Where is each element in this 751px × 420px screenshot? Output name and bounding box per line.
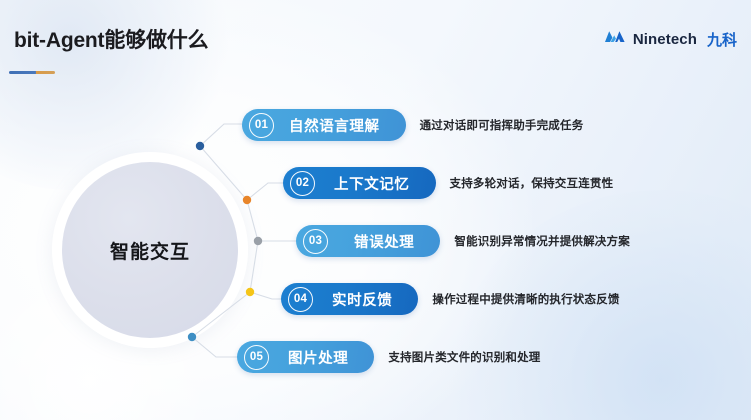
feature-pill-01[interactable]: 01 自然语言理解: [242, 109, 406, 141]
feature-label-03: 错误处理: [354, 231, 414, 252]
connector-dot-01: [196, 142, 204, 150]
slide-canvas: bit-Agent能够做什么 Ninetech 九科 智能交互: [0, 0, 751, 420]
feature-number-badge-03: 03: [303, 229, 328, 254]
feature-number-badge-05: 05: [244, 345, 269, 370]
connector-dot-04: [246, 288, 254, 296]
feature-desc-04: 操作过程中提供清晰的执行状态反馈: [432, 291, 619, 307]
feature-number-badge-01: 01: [249, 113, 274, 138]
connector-dot-03: [254, 237, 262, 245]
feature-pill-04[interactable]: 04 实时反馈: [281, 283, 418, 315]
feature-label-04: 实时反馈: [332, 289, 392, 310]
ninetech-peaks-logo-icon: [604, 29, 626, 50]
title-accent-bar: [9, 71, 55, 74]
feature-row-04[interactable]: 04 实时反馈 操作过程中提供清晰的执行状态反馈: [281, 283, 620, 315]
feature-desc-01: 通过对话即可指挥助手完成任务: [420, 117, 584, 133]
feature-label-01: 自然语言理解: [289, 115, 380, 136]
feature-pill-03[interactable]: 03 错误处理: [296, 225, 440, 257]
feature-number-badge-04: 04: [288, 287, 313, 312]
feature-pill-05[interactable]: 05 图片处理: [237, 341, 374, 373]
connector-dot-02: [243, 196, 251, 204]
feature-desc-03: 智能识别异常情况并提供解决方案: [454, 233, 630, 249]
feature-desc-05: 支持图片类文件的识别和处理: [388, 349, 540, 365]
feature-pill-02[interactable]: 02 上下文记忆: [283, 167, 436, 199]
feature-row-01[interactable]: 01 自然语言理解 通过对话即可指挥助手完成任务: [242, 109, 583, 141]
feature-label-02: 上下文记忆: [334, 173, 410, 194]
feature-number-badge-02: 02: [290, 171, 315, 196]
feature-label-05: 图片处理: [288, 347, 348, 368]
feature-row-05[interactable]: 05 图片处理 支持图片类文件的识别和处理: [237, 341, 541, 373]
feature-desc-02: 支持多轮对话，保持交互连贯性: [450, 175, 614, 191]
hub-label: 智能交互: [110, 237, 190, 264]
brand-logo: Ninetech 九科: [604, 29, 737, 50]
hub-circle: 智能交互: [62, 162, 238, 338]
brand-name: Ninetech: [633, 31, 697, 48]
brand-name-cn: 九科: [707, 29, 737, 50]
feature-row-02[interactable]: 02 上下文记忆 支持多轮对话，保持交互连贯性: [283, 167, 613, 199]
feature-row-03[interactable]: 03 错误处理 智能识别异常情况并提供解决方案: [296, 225, 630, 257]
page-title: bit-Agent能够做什么: [14, 24, 208, 54]
